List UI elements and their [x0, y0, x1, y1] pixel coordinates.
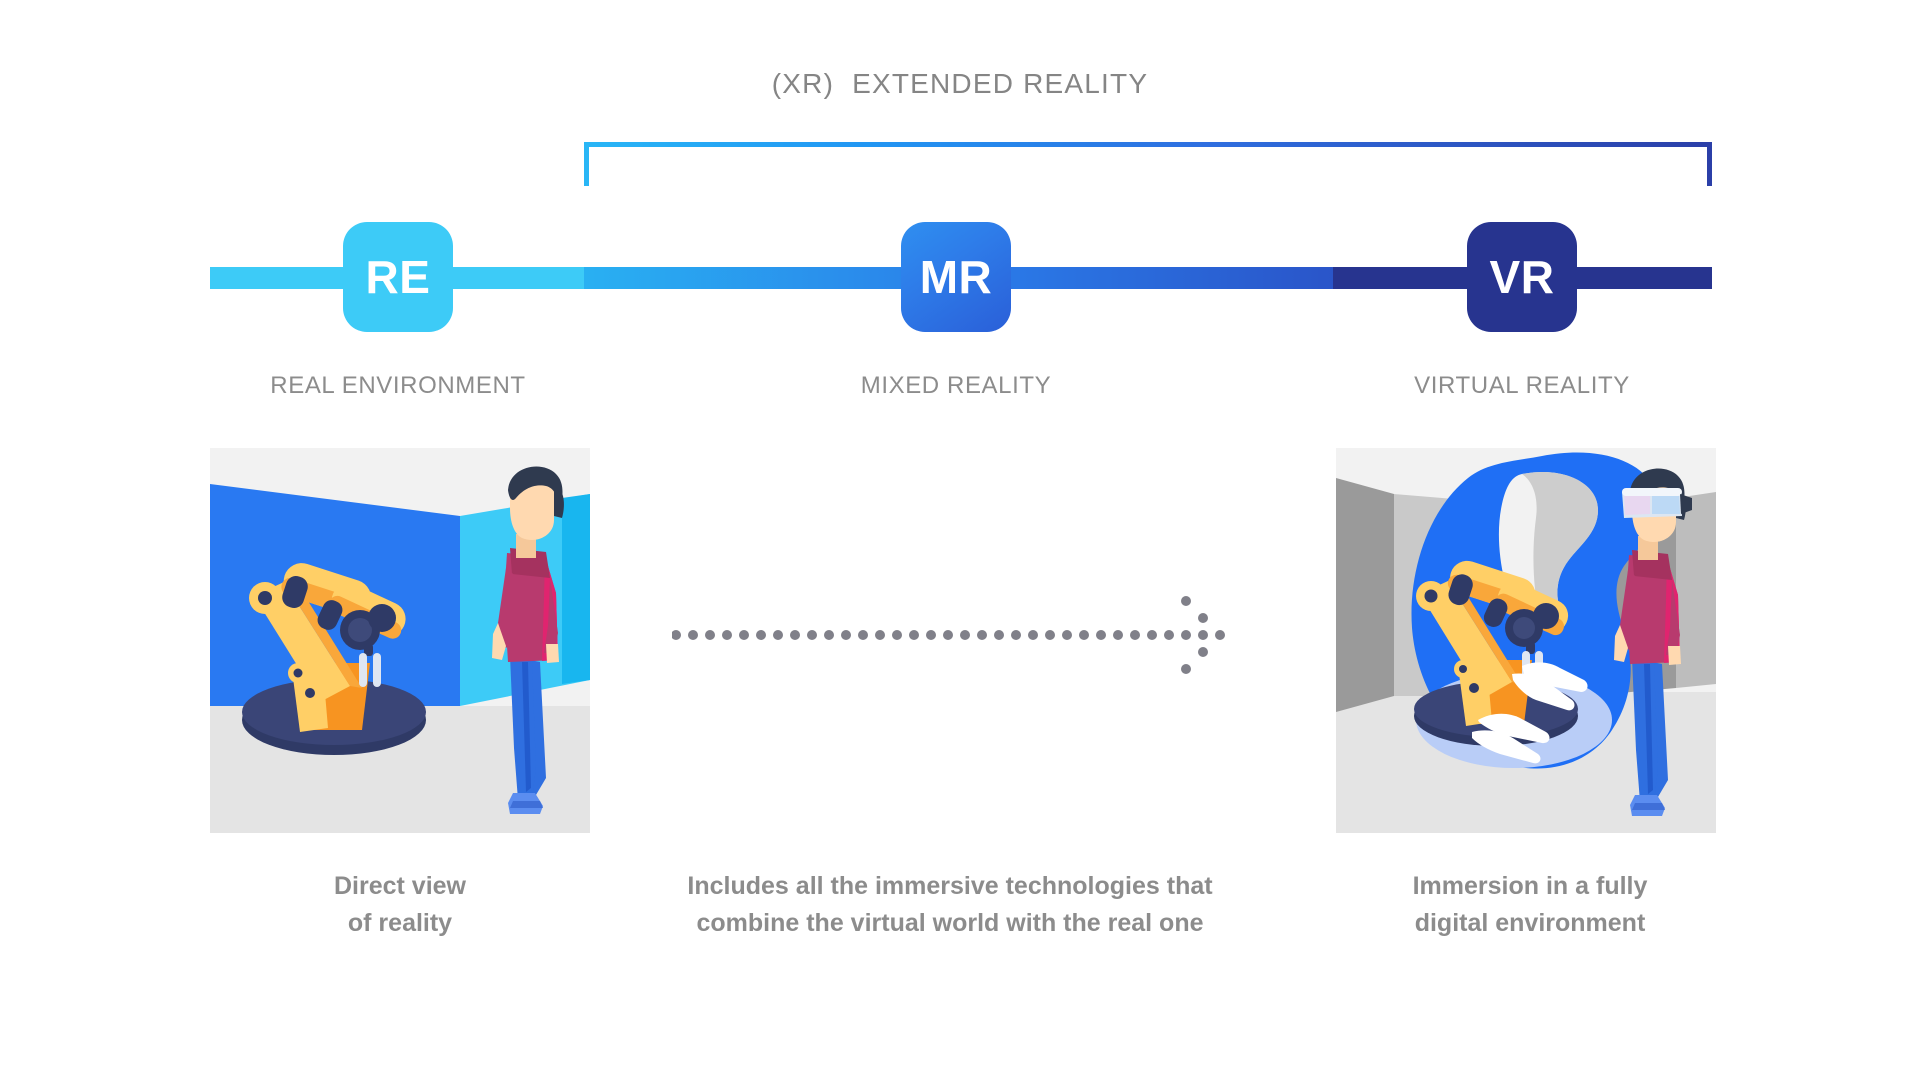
caption-virtual-reality: Immersion in a fully digital environment [1290, 868, 1770, 942]
illustration-virtual-reality [1336, 448, 1716, 833]
bracket-tick-left [584, 142, 589, 186]
caption-real-environment: Direct view of reality [160, 868, 640, 942]
stage-label-mixed-reality: MIXED REALITY [706, 372, 1206, 400]
caption-mixed-reality: Includes all the immersive technologies … [600, 868, 1300, 942]
badge-mr[interactable]: MR [901, 222, 1011, 332]
badge-vr[interactable]: VR [1467, 222, 1577, 332]
badge-mr-label: MR [920, 250, 993, 304]
bracket-top-line [584, 142, 1712, 147]
badge-vr-label: VR [1490, 250, 1555, 304]
dotted-arrow-right [672, 590, 1252, 680]
badge-re-label: RE [366, 250, 431, 304]
stage-label-virtual-reality: VIRTUAL REALITY [1272, 372, 1772, 400]
stage-label-real-environment: REAL ENVIRONMENT [148, 372, 648, 400]
infographic-canvas: (XR) EXTENDED REALITY RE MR VR REAL ENVI… [0, 0, 1920, 1080]
badge-re[interactable]: RE [343, 222, 453, 332]
xr-span-bracket [584, 142, 1712, 186]
vr-headset-icon [1622, 488, 1692, 518]
illustration-real-environment [210, 448, 590, 833]
bracket-tick-right [1707, 142, 1712, 186]
page-title: (XR) EXTENDED REALITY [0, 68, 1920, 100]
